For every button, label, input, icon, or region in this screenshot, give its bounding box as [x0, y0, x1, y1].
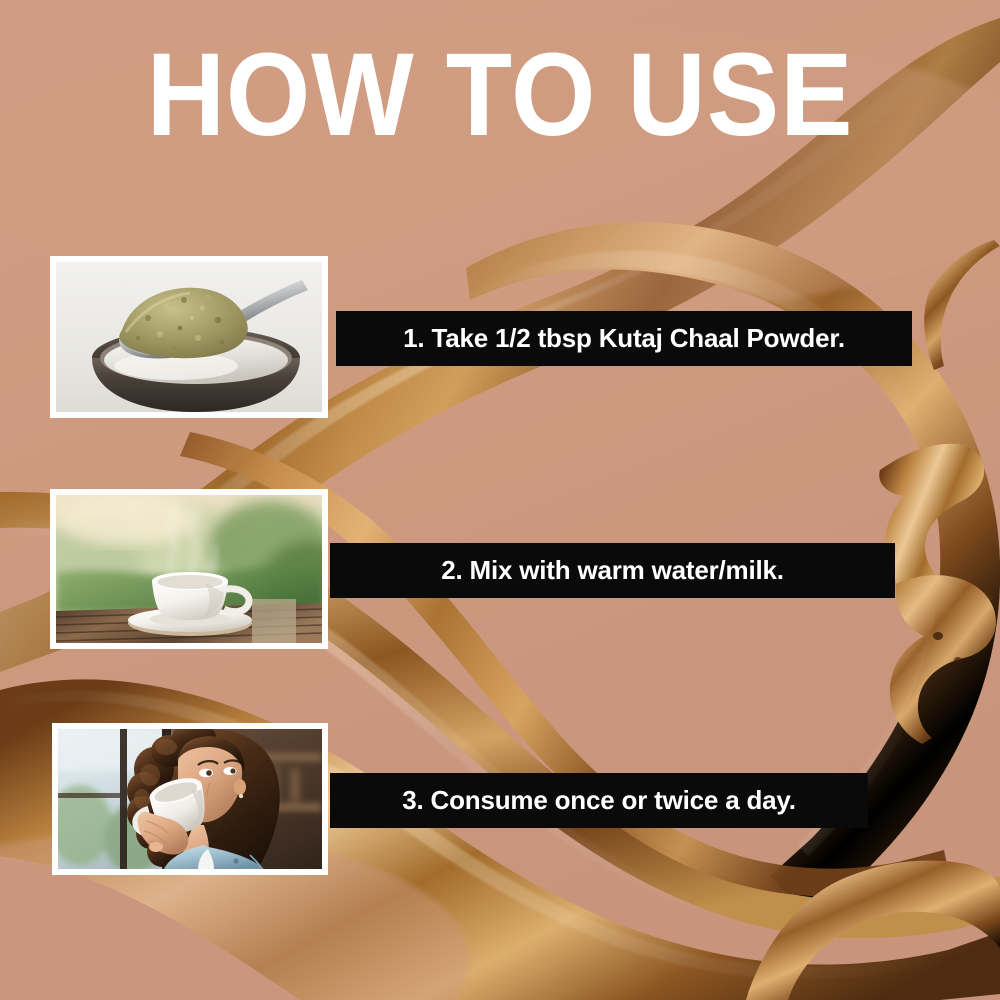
woman-drinking-tea-image — [58, 729, 322, 869]
steaming-tea-cup-image — [56, 495, 322, 643]
step-3-text: 3. Consume once or twice a day. — [330, 785, 868, 816]
step-1-text: 1. Take 1/2 tbsp Kutaj Chaal Powder. — [336, 323, 912, 354]
step-2-photo-card — [50, 489, 328, 649]
step-3-photo-card — [52, 723, 328, 875]
step-1-photo-card — [50, 256, 328, 418]
page-title: HOW TO USE — [40, 36, 960, 154]
herbal-powder-spoon-image — [56, 262, 322, 412]
how-to-use-poster: HOW TO USE — [0, 0, 1000, 1000]
step-3-instruction-bar: 3. Consume once or twice a day. — [330, 773, 868, 828]
step-1-instruction-bar: 1. Take 1/2 tbsp Kutaj Chaal Powder. — [336, 311, 912, 366]
step-2-instruction-bar: 2. Mix with warm water/milk. — [330, 543, 895, 598]
step-2-text: 2. Mix with warm water/milk. — [330, 555, 895, 586]
